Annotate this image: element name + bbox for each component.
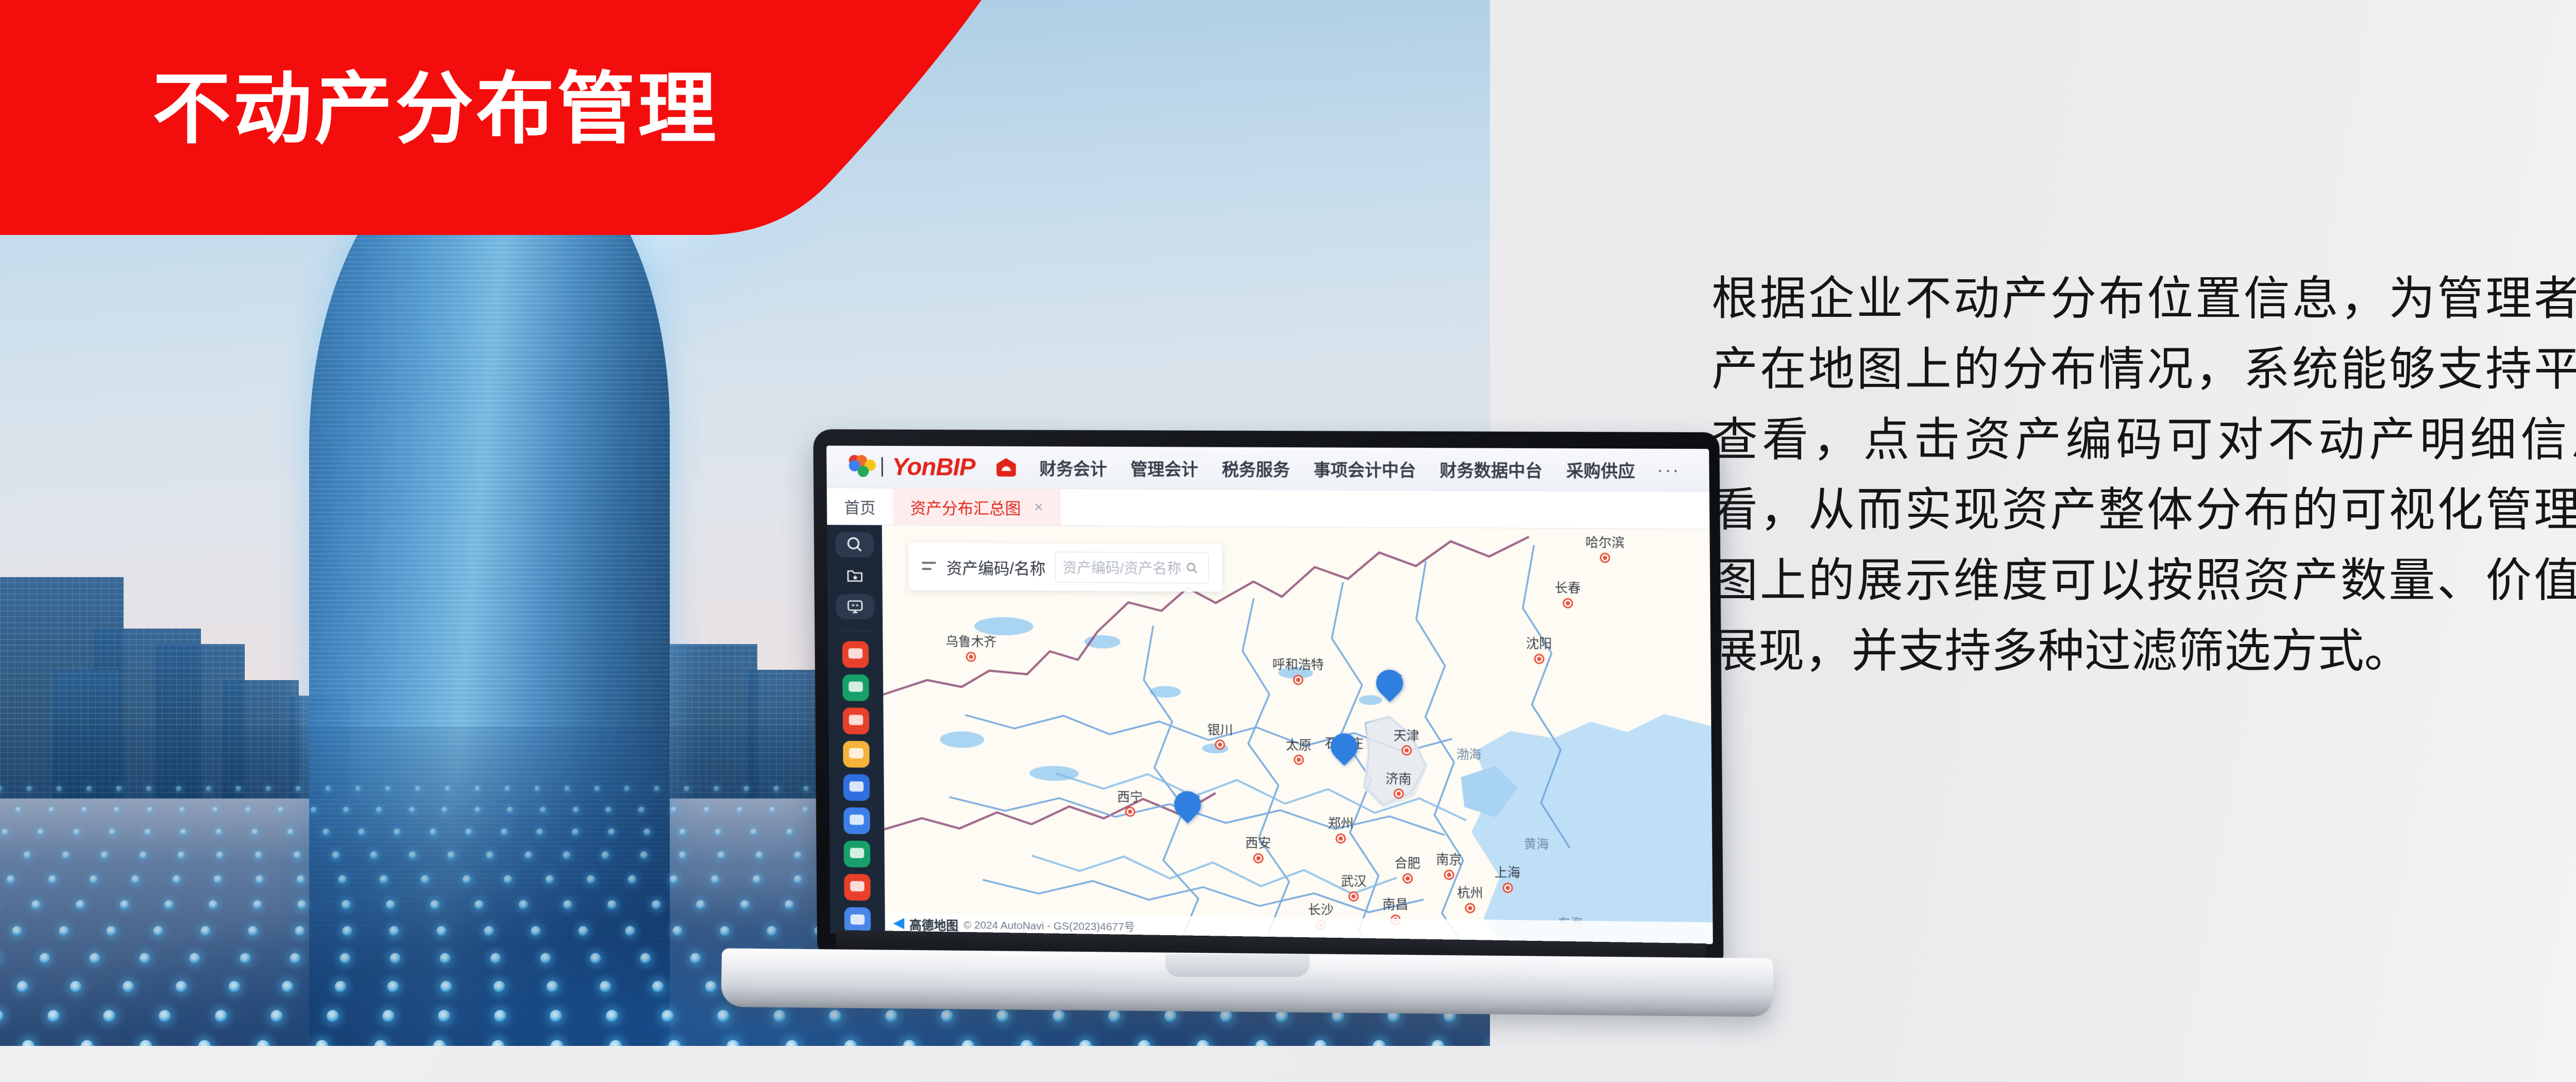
led-dot (325, 786, 331, 791)
led-dot (668, 1040, 681, 1046)
sea-label-0: 渤海 (1456, 744, 1482, 763)
amap-logo-icon (893, 918, 904, 929)
led-dot (265, 786, 271, 791)
led-dot (355, 786, 361, 791)
led-dot (705, 981, 717, 992)
led-dot (601, 851, 609, 859)
led-dot (190, 953, 200, 964)
sidebar-app-6[interactable] (844, 840, 871, 867)
led-dot (563, 851, 571, 859)
nav-item-1[interactable]: 管理会计 (1130, 455, 1198, 480)
page-title: 不动产分布管理 (152, 70, 719, 148)
city-marker-16[interactable] (1349, 891, 1359, 902)
led-dot (690, 953, 701, 964)
led-dot (139, 851, 147, 859)
sidebar-app-7[interactable] (844, 874, 871, 901)
led-dot (214, 875, 223, 884)
amap-copyright: © 2024 AutoNavi - GS(2023)4677号 (963, 917, 1135, 934)
led-dot (524, 851, 533, 859)
city-label-3: 沈阳 (1526, 633, 1552, 652)
led-dot (430, 829, 437, 836)
led-dot (390, 953, 401, 964)
city-label-2: 长春 (1555, 578, 1581, 596)
led-dot (255, 851, 263, 859)
led-dot (572, 807, 579, 814)
city-marker-1[interactable] (1293, 674, 1303, 685)
led-dot (563, 900, 572, 909)
led-dot (438, 1010, 451, 1022)
led-dot (56, 786, 62, 791)
led-dot (245, 807, 251, 814)
led-dot (342, 926, 352, 936)
led-dot (179, 807, 186, 814)
led-dot (484, 926, 494, 936)
led-dot (844, 1040, 857, 1046)
led-dot (293, 851, 301, 859)
led-dot (120, 900, 129, 909)
led-dot (679, 851, 687, 859)
led-dot (679, 829, 686, 836)
city-marker-9[interactable] (1394, 789, 1404, 799)
led-dot (578, 926, 588, 936)
led-dot (606, 1010, 618, 1022)
led-dot (154, 926, 164, 936)
slide-canvas: 不动产分布管理 根据企业不动产分布位置信息，为管理者展现企业不动产在地图上的分布… (0, 0, 2576, 1082)
led-dot (564, 786, 570, 791)
led-dot (180, 829, 187, 836)
led-dot (229, 981, 240, 992)
led-dot (338, 875, 347, 884)
nav-item-5[interactable]: 采购供应 (1566, 457, 1635, 482)
led-dot (146, 786, 151, 791)
led-dot (490, 953, 501, 964)
city-marker-14[interactable] (1502, 883, 1513, 893)
sidebar-app-2[interactable] (843, 707, 870, 734)
nav-item-0[interactable]: 财务会计 (1039, 455, 1107, 480)
folder-star-icon[interactable] (836, 564, 874, 587)
led-dot (547, 981, 558, 992)
sidebar-app-3[interactable] (843, 741, 870, 768)
sidebar-divider (837, 630, 874, 631)
sidebar-app-5[interactable] (843, 807, 870, 834)
tab-label: 资产分布汇总图 (910, 495, 1021, 519)
led-dot (545, 875, 554, 884)
city-marker-15[interactable] (1465, 903, 1475, 913)
led-dot (717, 851, 725, 859)
led-dot (103, 1010, 115, 1022)
led-dot (1431, 1040, 1444, 1046)
sea-label-1: 黄海 (1524, 834, 1549, 852)
led-dot (139, 1040, 152, 1046)
city-marker-0[interactable] (966, 652, 976, 662)
led-dot (409, 807, 415, 814)
led-dot (474, 807, 481, 814)
led-dot (15, 807, 22, 814)
led-dot (327, 1010, 339, 1022)
led-dot (829, 1010, 841, 1022)
led-dot (704, 807, 710, 814)
tab-1[interactable]: 资产分布汇总图× (893, 488, 1061, 526)
led-dot (297, 900, 307, 909)
city-marker-5[interactable] (1215, 740, 1225, 750)
city-marker-3[interactable] (1534, 653, 1544, 664)
led-dot (903, 1040, 916, 1046)
led-dot (315, 1040, 328, 1046)
led-dot (131, 875, 140, 884)
led-dot (90, 875, 98, 884)
led-dot (624, 786, 630, 791)
led-dot (70, 981, 81, 992)
city-label-16: 武汉 (1341, 871, 1366, 890)
led-dot (941, 1010, 953, 1022)
led-dot (37, 829, 44, 836)
led-dot (48, 875, 57, 884)
led-dot (340, 953, 351, 964)
led-dot (146, 807, 153, 814)
led-dot (394, 829, 401, 836)
led-dot (671, 807, 677, 814)
led-dot (608, 829, 615, 836)
led-dot (380, 875, 388, 884)
led-dot (164, 900, 174, 909)
laptop-lid: YonBIP 财务会计管理会计税务服务事项会计中台财务数据中台采购供应 ··· … (813, 429, 1723, 962)
led-dot (494, 1010, 506, 1022)
led-dot (720, 926, 730, 936)
led-dot (550, 1040, 563, 1046)
led-dot (442, 807, 448, 814)
led-dot (114, 807, 121, 814)
led-dot (386, 900, 395, 909)
city-label-0: 乌鲁木齐 (945, 632, 996, 651)
led-dot (22, 1040, 35, 1046)
led-dot (773, 1010, 786, 1022)
led-dot (73, 829, 80, 836)
led-dot (343, 807, 350, 814)
led-dot (501, 829, 508, 836)
led-dot (26, 786, 32, 791)
led-dot (1220, 1010, 1232, 1022)
led-dot (607, 900, 617, 909)
led-dot (643, 829, 651, 836)
city-label-17: 南昌 (1382, 894, 1408, 914)
led-dot (0, 786, 3, 791)
led-dot (389, 926, 400, 936)
logo-divider (882, 457, 883, 477)
led-dot (297, 875, 306, 884)
tab-0[interactable]: 首页 (827, 488, 893, 525)
led-dot (474, 900, 484, 909)
led-dot (212, 807, 219, 814)
led-dot (385, 786, 391, 791)
led-dot (251, 829, 259, 836)
left-sidebar (827, 525, 885, 934)
led-dot (625, 926, 636, 936)
led-dot (387, 981, 399, 992)
laptop-notch (1165, 954, 1310, 977)
led-dot (76, 900, 85, 909)
city-label-14: 上海 (1495, 863, 1521, 882)
city-marker-10[interactable] (1336, 834, 1346, 844)
led-dot (445, 786, 450, 791)
led-dot (90, 953, 100, 964)
led-dot (310, 807, 317, 814)
led-dot (669, 875, 678, 884)
led-dot (253, 900, 262, 909)
led-dot (609, 1040, 622, 1046)
led-dot (109, 829, 116, 836)
city-label-8: 天津 (1394, 725, 1420, 745)
city-label-13: 南京 (1436, 850, 1462, 869)
led-dot (12, 926, 22, 936)
monitor-chat-icon[interactable] (836, 594, 874, 619)
led-dot (198, 1040, 211, 1046)
led-dot (278, 807, 284, 814)
asset-filter-panel[interactable]: 资产编码/名称 资产编码/资产名称 (908, 543, 1222, 591)
tab-bar: 首页资产分布汇总图× (827, 488, 1710, 529)
city-label-4: 哈尔滨 (1585, 532, 1624, 551)
led-dot (534, 786, 540, 791)
main-nav: 财务会计管理会计税务服务事项会计中台财务数据中台采购供应 (1039, 455, 1635, 482)
led-dot (494, 981, 505, 992)
led-dot (440, 981, 452, 992)
led-dot (17, 981, 28, 992)
asset-pin-2[interactable] (1174, 791, 1201, 818)
led-dot (80, 1040, 93, 1046)
led-dot (684, 786, 689, 791)
led-dot (433, 1040, 446, 1046)
city-label-10: 郑州 (1328, 814, 1353, 833)
led-dot (116, 786, 122, 791)
led-dot (997, 1010, 1009, 1022)
led-dot (215, 829, 223, 836)
led-dot (144, 829, 151, 836)
led-dot (282, 981, 293, 992)
led-dot (572, 829, 579, 836)
yonyou-logo-icon (849, 455, 877, 479)
led-dot (1079, 1040, 1092, 1046)
led-dot (550, 1010, 562, 1022)
led-dot (295, 786, 301, 791)
sidebar-app-4[interactable] (843, 774, 870, 801)
city-marker-6[interactable] (1125, 807, 1135, 817)
led-dot (415, 786, 420, 791)
led-dot (39, 953, 50, 964)
led-dot (287, 829, 294, 836)
led-dot (1196, 1040, 1209, 1046)
nav-item-2[interactable]: 税务服务 (1222, 456, 1290, 481)
city-label-11: 西安 (1245, 833, 1271, 852)
led-dot (81, 807, 88, 814)
search-icon[interactable] (835, 532, 874, 557)
led-dot (342, 900, 351, 909)
led-dot (430, 900, 439, 909)
led-dot (726, 1040, 739, 1046)
laptop-mockup: YonBIP 财务会计管理会计税务服务事项会计中台财务数据中台采购供应 ··· … (732, 421, 1762, 1009)
led-dot (1053, 1010, 1065, 1022)
description-text: 根据企业不动产分布位置信息，为管理者展现企业不动产在地图上的分布情况，系统能够支… (1711, 264, 2576, 687)
led-dot (492, 1040, 504, 1046)
filter-icon[interactable] (922, 559, 937, 573)
led-dot (31, 900, 41, 909)
led-dot (123, 981, 134, 992)
led-dot (711, 875, 720, 884)
led-dot (640, 851, 648, 859)
led-dot (255, 875, 264, 884)
led-dot (605, 807, 612, 814)
led-dot (1108, 1010, 1121, 1022)
led-dot (672, 926, 683, 936)
led-dot (106, 926, 116, 936)
led-dot (421, 875, 430, 884)
city-marker-11[interactable] (1253, 853, 1263, 864)
led-dot (59, 926, 69, 936)
led-dot (23, 851, 31, 859)
search-input[interactable]: 资产编码/资产名称 (1055, 552, 1209, 584)
led-dot (640, 953, 651, 964)
led-dot (652, 981, 664, 992)
led-dot (1020, 1040, 1033, 1046)
led-dot (257, 1040, 269, 1046)
tab-label: 首页 (844, 495, 875, 518)
nav-item-4[interactable]: 财务数据中台 (1439, 457, 1543, 482)
city-label-7: 太原 (1286, 735, 1312, 753)
led-dot (504, 875, 513, 884)
led-dot (100, 851, 109, 859)
led-dot (334, 981, 346, 992)
led-dot (176, 786, 181, 791)
led-dot (540, 953, 551, 964)
led-dot (382, 1010, 395, 1022)
sidebar-app-list (842, 641, 871, 934)
led-dot (696, 900, 705, 909)
led-dot (7, 875, 15, 884)
led-dot (1164, 1010, 1177, 1022)
city-marker-4[interactable] (1600, 552, 1610, 563)
city-marker-7[interactable] (1294, 755, 1304, 765)
led-dot (376, 807, 383, 814)
city-label-6: 西宁 (1117, 787, 1143, 805)
led-dot (370, 851, 379, 859)
led-dot (323, 829, 330, 836)
led-dot (173, 875, 181, 884)
led-dot (715, 829, 722, 836)
nav-item-3[interactable]: 事项会计中台 (1313, 456, 1416, 481)
sidebar-app-0[interactable] (842, 641, 869, 668)
led-dot (628, 875, 637, 884)
led-dot (531, 926, 541, 936)
led-dot (1372, 1040, 1385, 1046)
led-dot (374, 1040, 387, 1046)
city-marker-8[interactable] (1401, 746, 1412, 756)
led-dot (540, 807, 547, 814)
led-dot (86, 786, 92, 791)
led-dot (507, 807, 514, 814)
led-dot (638, 807, 645, 814)
app-body: 资产编码/名称 资产编码/资产名称 乌鲁木齐呼和浩特长春沈阳哈尔滨银川西宁太原天… (827, 525, 1713, 944)
city-marker-12[interactable] (1402, 873, 1413, 884)
city-label-9: 济南 (1385, 769, 1411, 788)
city-marker-13[interactable] (1444, 870, 1454, 880)
city-marker-2[interactable] (1563, 598, 1573, 608)
led-dot (462, 875, 471, 884)
led-dot (1255, 1040, 1268, 1046)
led-dot (714, 786, 719, 791)
led-dot (652, 900, 661, 909)
led-dot (785, 1040, 798, 1046)
led-dot (235, 786, 241, 791)
led-dot (159, 1010, 172, 1022)
led-dot (240, 953, 250, 964)
close-icon[interactable]: × (1034, 498, 1043, 516)
asset-pin-0[interactable] (1376, 669, 1403, 697)
led-dot (216, 851, 224, 859)
led-dot (536, 829, 544, 836)
led-dot (0, 1010, 4, 1022)
led-dot (436, 926, 447, 936)
city-label-18: 长沙 (1308, 900, 1333, 919)
led-dot (718, 1010, 730, 1022)
led-dot (270, 1010, 283, 1022)
led-dot (590, 953, 601, 964)
led-dot (885, 1010, 897, 1022)
led-dot (662, 1010, 674, 1022)
led-dot (2, 829, 9, 836)
led-dot (654, 786, 659, 791)
led-dot (295, 926, 305, 936)
led-dot (178, 851, 186, 859)
led-dot (961, 1040, 974, 1046)
led-dot (1314, 1040, 1327, 1046)
led-dot (206, 786, 211, 791)
app-header: YonBIP 财务会计管理会计税务服务事项会计中台财务数据中台采购供应 ··· (826, 446, 1709, 492)
led-dot (358, 829, 365, 836)
led-dot (62, 851, 70, 859)
led-dot (587, 875, 596, 884)
search-icon[interactable] (1185, 561, 1199, 574)
led-dot (465, 829, 472, 836)
laptop-screen: YonBIP 财务会计管理会计税务服务事项会计中台财务数据中台采购供应 ··· … (826, 446, 1713, 944)
led-dot (200, 926, 211, 936)
home-icon[interactable] (996, 458, 1016, 477)
city-label-1: 呼和浩特 (1272, 654, 1324, 673)
led-dot (519, 900, 528, 909)
led-dot (47, 1010, 60, 1022)
led-dot (474, 786, 480, 791)
led-dot (140, 953, 150, 964)
asset-pin-1[interactable] (1331, 733, 1358, 760)
search-input-placeholder: 资产编码/资产名称 (1062, 557, 1181, 578)
led-dot (1138, 1040, 1150, 1046)
led-dot (290, 953, 300, 964)
led-dot (215, 1010, 227, 1022)
city-label-5: 银川 (1207, 720, 1233, 738)
nav-more-button[interactable]: ··· (1657, 459, 1681, 481)
map-container[interactable]: 资产编码/名称 资产编码/资产名称 乌鲁木齐呼和浩特长春沈阳哈尔滨银川西宁太原天… (882, 525, 1713, 944)
led-dot (176, 981, 187, 992)
led-dot (594, 786, 600, 791)
app-logo-text: YonBIP (892, 453, 975, 481)
led-dot (447, 851, 455, 859)
led-dot (486, 851, 494, 859)
sidebar-app-1[interactable] (842, 674, 869, 701)
city-label-12: 合肥 (1395, 853, 1421, 872)
led-dot (504, 786, 510, 791)
amap-name: 高德地图 (909, 915, 958, 933)
led-dot (209, 900, 218, 909)
led-dot (248, 926, 258, 936)
city-label-15: 杭州 (1457, 883, 1483, 902)
led-dot (599, 981, 611, 992)
